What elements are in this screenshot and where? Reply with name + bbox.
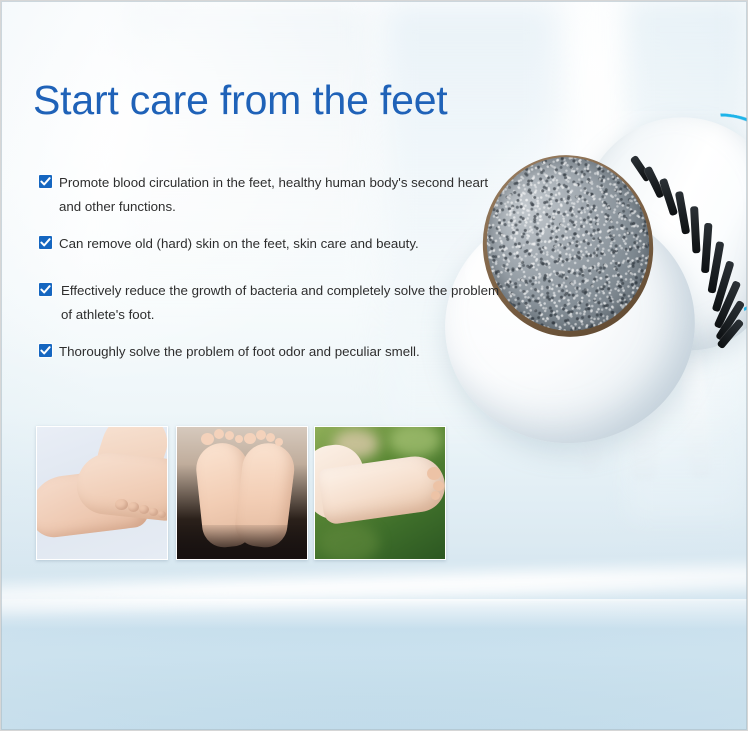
feature-text: Can remove old (hard) skin on the feet, … bbox=[52, 232, 419, 256]
checkbox-checked-icon bbox=[39, 175, 52, 188]
feature-list: Promote blood circulation in the feet, h… bbox=[39, 171, 509, 377]
checkbox-checked-icon bbox=[39, 236, 52, 249]
checkbox-checked-icon bbox=[39, 283, 52, 296]
gallery-thumbnail-1 bbox=[36, 426, 168, 560]
photo-foot-outdoors-green-background bbox=[315, 427, 445, 559]
gallery-thumbnail-2 bbox=[176, 426, 308, 560]
checkbox-checked-icon bbox=[39, 344, 52, 357]
feature-text: Promote blood circulation in the feet, h… bbox=[52, 171, 509, 219]
photo-soles-of-feet-dark-background bbox=[177, 427, 307, 559]
feature-item: Effectively reduce the growth of bacteri… bbox=[39, 279, 509, 327]
page-title: Start care from the feet bbox=[33, 77, 448, 124]
feature-item: Thoroughly solve the problem of foot odo… bbox=[39, 340, 509, 364]
feature-text: Effectively reduce the growth of bacteri… bbox=[52, 279, 509, 327]
photo-feet-on-light-blue-sheet bbox=[37, 427, 167, 559]
feature-item: Promote blood circulation in the feet, h… bbox=[39, 171, 509, 219]
product-marketing-banner: Start care from the feet Promote blood c… bbox=[0, 0, 748, 731]
feature-item: Can remove old (hard) skin on the feet, … bbox=[39, 232, 509, 256]
gallery-thumbnail-3 bbox=[314, 426, 446, 560]
feature-text: Thoroughly solve the problem of foot odo… bbox=[52, 340, 420, 364]
